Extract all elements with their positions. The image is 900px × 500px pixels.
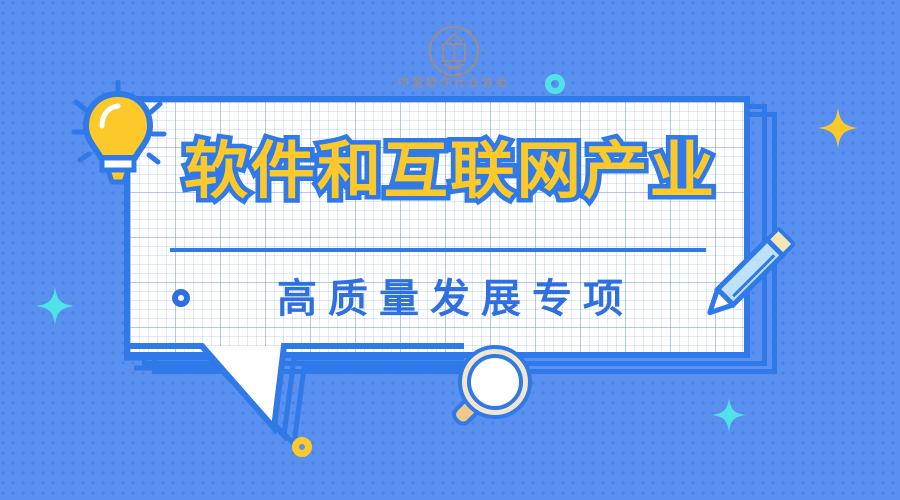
lightbulb-icon xyxy=(66,80,174,192)
magnifier-icon xyxy=(443,338,555,438)
star-cyan-bottom xyxy=(712,398,746,437)
ring-yellow-bottom xyxy=(292,437,312,457)
star-yellow-right xyxy=(818,108,858,153)
poster-canvas: 中国软件行业协会 软件和互联网产业 高质量发展专项 xyxy=(0,0,900,500)
emblem-icon: 中国软件行业协会 xyxy=(396,24,512,98)
title-divider xyxy=(170,248,706,252)
pencil-icon xyxy=(683,212,813,334)
speech-bubble-tail xyxy=(124,340,464,450)
ring-blue-subtitle xyxy=(172,289,190,307)
emblem-caption: 中国软件行业协会 xyxy=(396,74,512,90)
page-subtitle: 高质量发展专项 xyxy=(266,266,634,324)
ring-cyan-top xyxy=(545,74,565,94)
